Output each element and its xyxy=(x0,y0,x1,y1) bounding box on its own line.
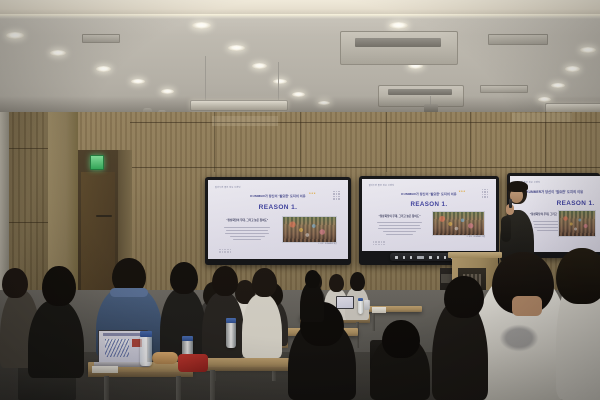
audience-head xyxy=(2,268,28,298)
ceiling-air-slot xyxy=(82,34,120,43)
wall-highlight-patch xyxy=(212,116,278,126)
downlight-icon xyxy=(96,66,111,72)
slide-title: KUMMER가 당신이 '필요한' 도지의 이유 xyxy=(208,193,348,198)
slide-photo xyxy=(558,210,596,236)
desk-leg xyxy=(210,370,215,400)
downlight-icon xyxy=(6,32,24,39)
wall-seam xyxy=(130,122,600,123)
downlight-icon xyxy=(161,89,174,94)
osd-button[interactable] xyxy=(429,256,432,259)
ac-vent-icon xyxy=(355,38,441,47)
slide-quote: "정상회당의 무대, 그리고 늘은 참여도" xyxy=(221,218,274,222)
ac-vent-icon xyxy=(388,89,452,95)
osd-button[interactable] xyxy=(437,256,440,259)
downlight-icon xyxy=(551,83,565,88)
ceiling-air-slot xyxy=(488,34,548,45)
neck xyxy=(512,296,542,316)
bottle-cap xyxy=(226,318,236,323)
slide-quote: "정상회당의 무대, 그리고 늘은 참여도" xyxy=(374,214,425,218)
bread-roll xyxy=(152,352,178,364)
osd-button[interactable] xyxy=(444,256,447,259)
left-display-screen: 알아두면 좋은 정보 브랜딩 KUMMER가 당신이 '필요한' 도지의 이유 … xyxy=(208,180,348,259)
door-handle-icon[interactable] xyxy=(96,215,112,217)
wall-seam xyxy=(470,112,471,172)
audience-head xyxy=(42,266,76,306)
bottle-cap xyxy=(140,331,152,337)
audience-head-foreground xyxy=(382,320,420,358)
osd-button[interactable] xyxy=(410,256,413,259)
downlight-icon xyxy=(273,79,287,84)
exit-sign-icon xyxy=(90,155,104,170)
water-bottle xyxy=(226,322,236,348)
slide-corner-label: 알아두면 좋은 정보 브랜딩 xyxy=(369,184,395,187)
slide-photo-caption: ※ 사진 · KUMMER 제공 xyxy=(284,242,337,245)
ceiling-air-slot xyxy=(480,85,528,93)
laptop-chart xyxy=(105,339,129,357)
side-door[interactable] xyxy=(81,172,115,300)
downlight-icon xyxy=(192,22,211,29)
denim-collar xyxy=(110,288,148,297)
slide-heading: REASON 1. xyxy=(541,200,595,207)
slide-decor-dots xyxy=(482,189,488,198)
slide-footer-logo xyxy=(373,241,385,245)
audience-member xyxy=(300,282,324,322)
presenter xyxy=(498,180,540,262)
downlight-icon xyxy=(580,47,596,53)
wall-seam xyxy=(386,112,387,172)
slide-decor-dots xyxy=(333,191,339,200)
wall-seam xyxy=(9,222,48,223)
bottle-cap xyxy=(182,336,193,341)
downlight-icon xyxy=(565,66,580,72)
audience-head xyxy=(305,270,320,288)
desk-leg xyxy=(104,376,109,400)
red-pouch xyxy=(178,354,208,372)
presenter-hair-icon xyxy=(507,181,528,192)
downlight-icon xyxy=(50,50,66,56)
slide-body-text xyxy=(375,220,423,237)
bottle-cap xyxy=(358,298,363,301)
presentation-slide: 알아두면 좋은 정보 브랜딩 KUMMER가 당신이 '필요한' 도지의 이유 … xyxy=(362,179,496,251)
downlight-icon xyxy=(131,79,145,84)
left-display[interactable]: 알아두면 좋은 정보 브랜딩 KUMMER가 당신이 '필요한' 도지의 이유 … xyxy=(205,177,351,265)
ceiling-ac-unit xyxy=(340,31,458,65)
laptop-toolbar xyxy=(103,333,143,336)
podium-top-surface xyxy=(448,252,502,258)
audience-head xyxy=(350,272,365,291)
microphone-icon xyxy=(509,199,512,208)
downlight-icon xyxy=(252,63,267,69)
slide-title-stars: ★★★ xyxy=(458,190,465,193)
water-bottle xyxy=(358,300,363,314)
audience-head xyxy=(212,266,238,296)
center-display-screen: 알아두면 좋은 정보 브랜딩 KUMMER가 당신이 '필요한' 도지의 이유 … xyxy=(362,179,496,251)
wall-seam xyxy=(9,148,48,149)
slide-title: KUMMER가 당신이 '필요한' 도지의 이유 xyxy=(362,191,496,196)
audience-head-foreground xyxy=(444,276,484,318)
wall-seam xyxy=(130,167,600,168)
slide-footer-logo xyxy=(219,249,231,253)
laptop xyxy=(336,296,354,309)
lecture-hall-photo: 알아두면 좋은 정보 브랜딩 KUMMER가 당신이 '필요한' 도지의 이유 … xyxy=(0,0,600,400)
slide-heading: REASON 1. xyxy=(362,201,496,208)
water-bottle xyxy=(140,336,152,366)
audience-member xyxy=(202,292,244,358)
slide-corner-label: 알아두면 좋은 정보 브랜딩 xyxy=(215,186,241,189)
audience-head-foreground xyxy=(556,248,600,304)
slide-title-stars: ★★★ xyxy=(309,192,316,195)
osd-button[interactable] xyxy=(403,256,406,259)
drink-cup xyxy=(364,300,370,310)
notebook xyxy=(92,366,118,373)
audience-head xyxy=(329,274,344,292)
slide-photo xyxy=(432,211,485,236)
downlight-icon xyxy=(228,45,245,51)
cove-light-glow xyxy=(0,14,600,19)
presentation-slide: 알아두면 좋은 정보 브랜딩 KUMMER가 당신이 '필요한' 도지의 이유 … xyxy=(208,180,348,259)
desk-leg xyxy=(176,376,181,400)
audience-member xyxy=(28,300,84,378)
notebook xyxy=(372,307,386,313)
shirt-print xyxy=(496,322,542,354)
slide-photo-caption: ※ 사진 · KUMMER 제공 xyxy=(434,235,485,238)
osd-button[interactable] xyxy=(395,256,398,259)
slide-body-text xyxy=(222,225,272,242)
osd-button[interactable] xyxy=(417,256,424,259)
slide-heading: REASON 1. xyxy=(208,204,348,211)
audience-head xyxy=(252,268,277,297)
audience-head xyxy=(170,262,198,294)
desk-leg xyxy=(372,311,375,331)
downlight-icon xyxy=(389,22,408,29)
audience-member xyxy=(242,294,282,358)
wall-highlight-patch xyxy=(512,113,572,122)
wall-seam xyxy=(300,112,301,172)
slide-photo xyxy=(282,216,337,243)
presenter-arm xyxy=(501,216,511,242)
